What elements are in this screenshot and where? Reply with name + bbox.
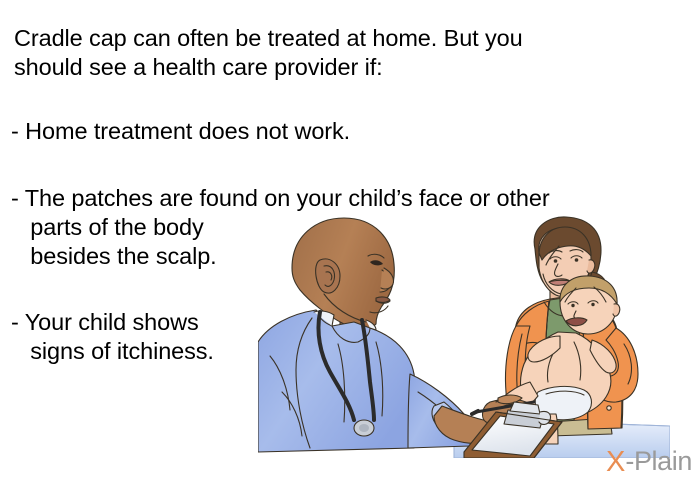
bullet-item-1: - Home treatment does not work. — [11, 117, 350, 146]
bullet-item-3: - Your child shows signs of itchiness. — [11, 308, 214, 366]
intro-paragraph: Cradle cap can often be treated at home.… — [14, 24, 523, 82]
x-plain-mark-icon: X — [606, 448, 625, 477]
illustration-doctor-mother-baby — [258, 216, 670, 458]
x-plain-wordmark: -Plain — [625, 448, 692, 475]
slide-canvas: Cradle cap can often be treated at home.… — [0, 0, 700, 480]
x-plain-logo: X -Plain — [606, 446, 692, 476]
